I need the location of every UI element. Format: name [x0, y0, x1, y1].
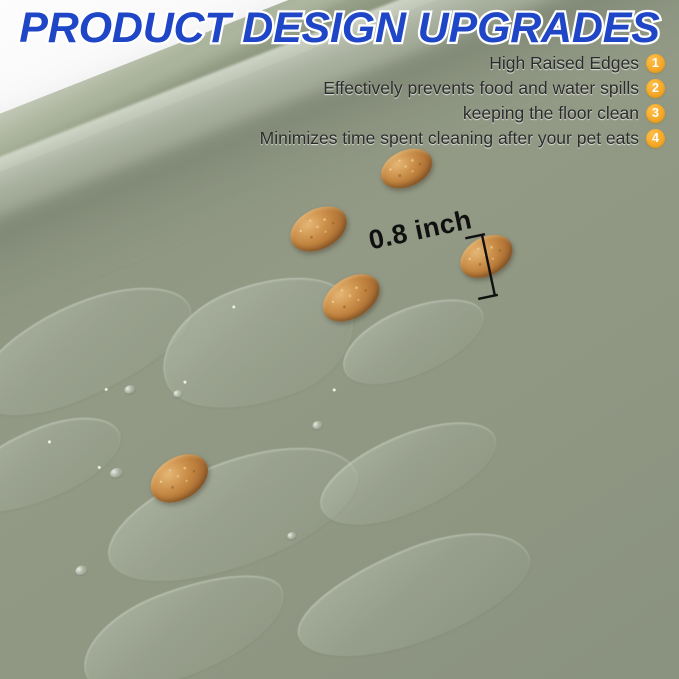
feature-label: keeping the floor clean [463, 103, 639, 124]
feature-number-badge: 4 [646, 129, 665, 148]
water-droplet [311, 419, 323, 430]
feature-label: Effectively prevents food and water spil… [323, 78, 639, 99]
water-puddle [0, 401, 132, 531]
feature-list-item: Effectively prevents food and water spil… [323, 77, 665, 100]
feature-list-item: keeping the floor clean 3 [463, 102, 665, 125]
feature-list: High Raised Edges 1 Effectively prevents… [260, 52, 665, 150]
water-puddle [283, 508, 544, 679]
water-specular-highlight [104, 388, 108, 392]
feature-list-item: Minimizes time spent cleaning after your… [260, 127, 665, 150]
water-specular-highlight [332, 388, 335, 391]
feature-number-badge: 2 [646, 79, 665, 98]
water-droplet [123, 384, 136, 395]
water-puddle [307, 403, 510, 543]
kibble-piece [283, 197, 355, 260]
page-title: PRODUCT DESIGN UPGRADES [0, 4, 679, 53]
water-droplet [74, 564, 88, 577]
product-marketing-image: 0.8 inch PRODUCT DESIGN UPGRADES High Ra… [0, 0, 679, 679]
water-puddle [144, 252, 373, 435]
feature-number-badge: 3 [646, 104, 665, 123]
feature-list-item: High Raised Edges 1 [489, 52, 665, 75]
feature-label: High Raised Edges [489, 53, 639, 74]
feature-number-badge: 1 [646, 54, 665, 73]
feature-label: Minimizes time spent cleaning after your… [260, 128, 639, 149]
water-droplet [109, 466, 124, 479]
